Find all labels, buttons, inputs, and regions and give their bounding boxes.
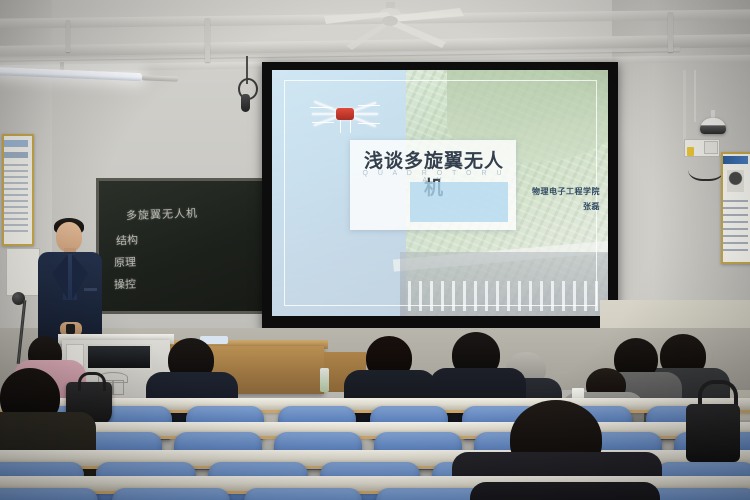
blackboard-item-1: 结构 xyxy=(116,231,139,248)
dome-security-camera xyxy=(700,118,726,134)
lecture-hall-photo: 多旋翼无人机 结构 原理 操控 浅谈多旋翼无人机 Q U A D xyxy=(0,0,750,500)
conduit-pipe xyxy=(694,70,696,122)
notice-text-rows xyxy=(4,164,28,236)
poster-header xyxy=(723,156,748,164)
water-bottle xyxy=(320,368,329,392)
conduit-pipe xyxy=(66,20,70,52)
notice-header xyxy=(4,140,28,147)
blackboard-title: 多旋翼无人机 xyxy=(126,205,199,224)
conduit-pipe xyxy=(205,18,210,62)
presentation-clicker xyxy=(66,324,75,334)
presenter-pocket xyxy=(84,288,97,291)
poster-portrait xyxy=(727,170,744,192)
podium-monitor xyxy=(86,344,152,370)
conduit-pipe xyxy=(668,12,673,52)
slide-presenter-name: 张磊 xyxy=(583,201,600,212)
slide-organization: 物理电子工程学院 xyxy=(532,186,600,197)
power-cable xyxy=(688,153,724,181)
projector-remote xyxy=(241,94,250,112)
notice-title-bar xyxy=(4,152,28,158)
handbag-handle xyxy=(78,372,106,391)
blackboard-item-3: 操控 xyxy=(114,276,137,293)
projection-screen: 浅谈多旋翼无人机 Q U A D R O T O R U A V 物理电子工程学… xyxy=(272,70,608,316)
slide-org-box xyxy=(410,182,508,222)
shoulder-bag xyxy=(686,404,740,462)
blackboard-item-2: 原理 xyxy=(114,254,137,271)
ceiling-fan xyxy=(318,2,468,54)
conduit-pipe xyxy=(683,70,686,142)
poster-text-rows xyxy=(723,200,748,254)
wall-panel xyxy=(6,248,40,296)
drone-icon xyxy=(308,96,382,136)
